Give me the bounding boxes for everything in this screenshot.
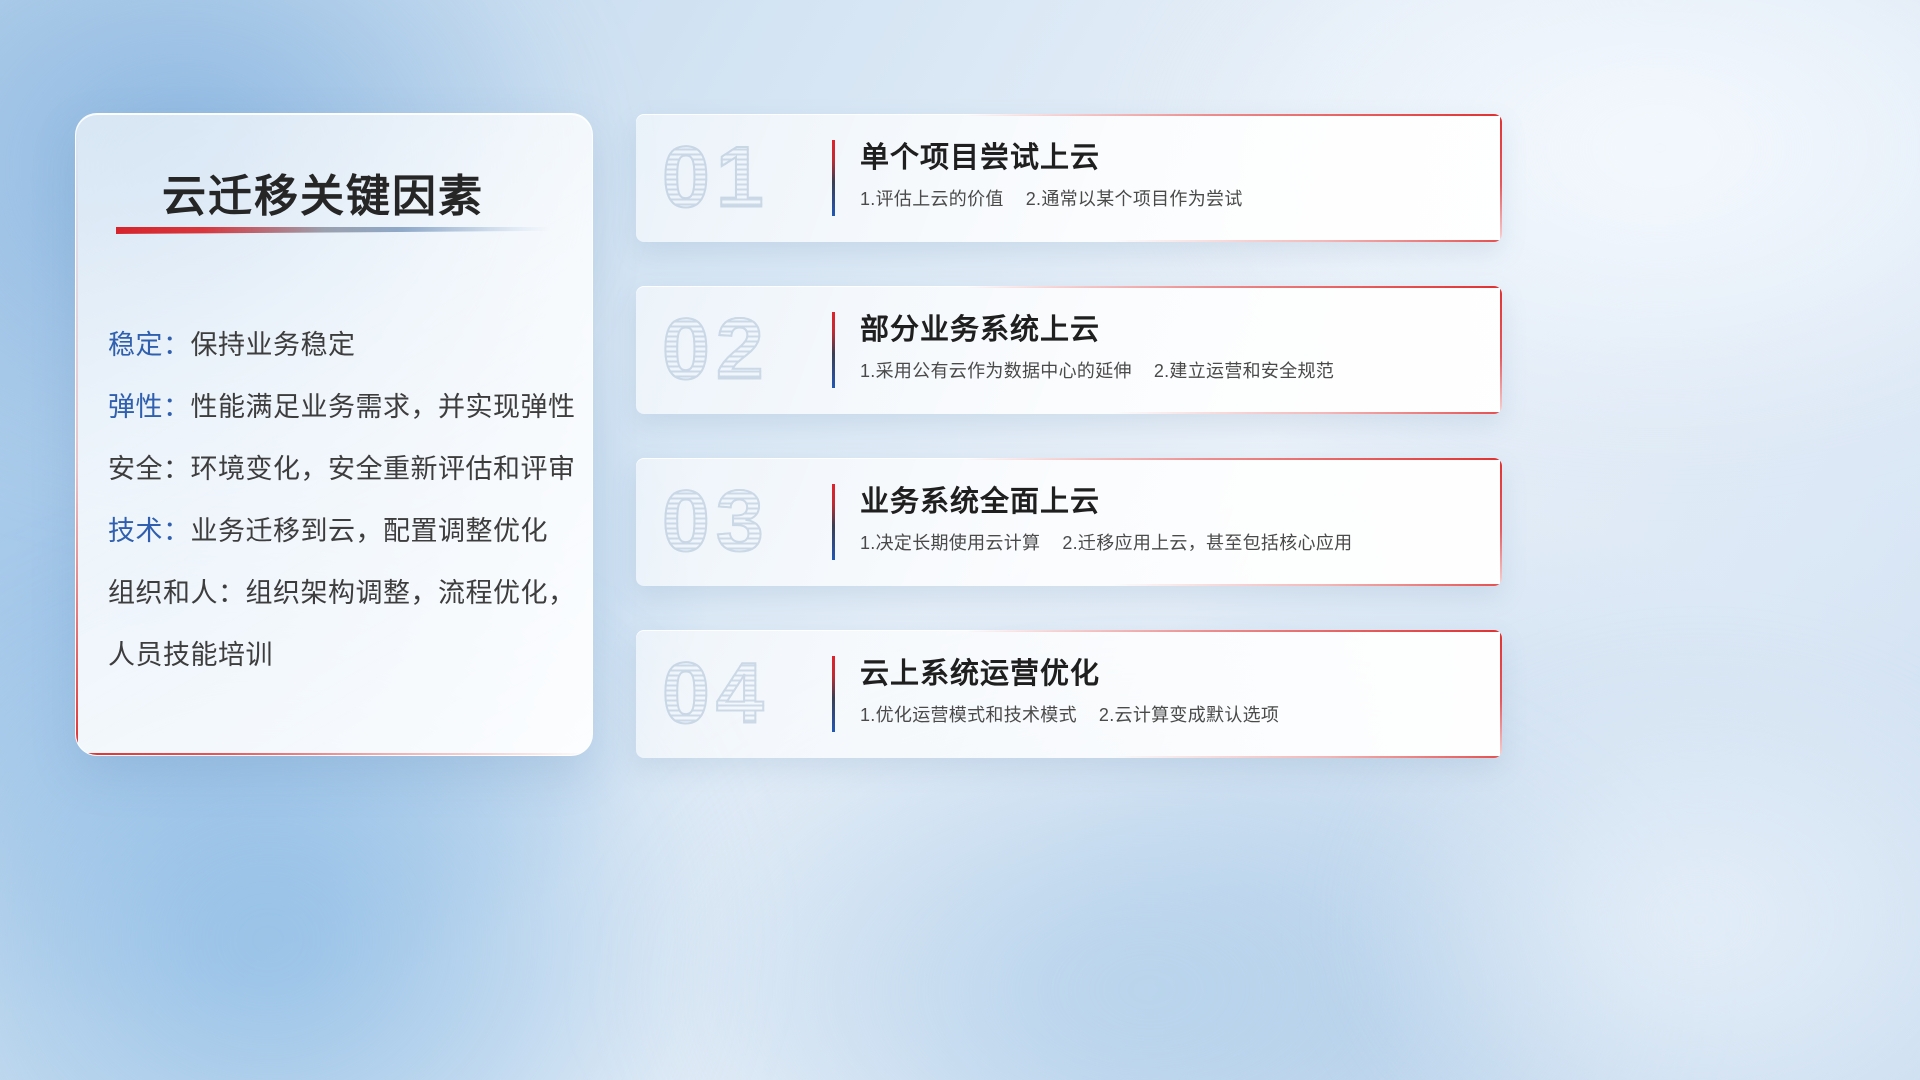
step-content: 单个项目尝试上云 1.评估上云的价值2.通常以某个项目作为尝试	[860, 138, 1478, 212]
list-item: 组织和人：组织架构调整，流程优化，	[108, 562, 564, 624]
list-item-text: 性能满足业务需求，并实现弹性	[191, 392, 576, 422]
card-top-accent	[965, 114, 1502, 116]
list-item-label: 安全：	[108, 454, 191, 484]
step-subtitle: 1.决定长期使用云计算2.迁移应用上云，甚至包括核心应用	[860, 530, 1478, 556]
step-title: 业务系统全面上云	[860, 482, 1478, 522]
step-card-02[interactable]: 02 部分业务系统上云 1.采用公有云作为数据中心的延伸2.建立运营和安全规范	[636, 286, 1502, 414]
step-accent-bar	[832, 484, 835, 560]
step-subtitle: 1.评估上云的价值2.通常以某个项目作为尝试	[860, 186, 1478, 212]
step-card-01[interactable]: 01 单个项目尝试上云 1.评估上云的价值2.通常以某个项目作为尝试	[636, 114, 1502, 242]
list-item-label: 技术：	[108, 516, 191, 546]
step-point-2: 2.通常以某个项目作为尝试	[1026, 189, 1243, 209]
step-point-2: 2.迁移应用上云，甚至包括核心应用	[1062, 533, 1352, 553]
card-right-accent	[1500, 114, 1502, 242]
step-point-1: 1.优化运营模式和技术模式	[860, 705, 1077, 725]
card-top-accent	[965, 286, 1502, 288]
list-item-label: 弹性：	[108, 392, 191, 422]
list-item-text: 组织架构调整，流程优化，	[246, 578, 576, 608]
step-subtitle: 1.优化运营模式和技术模式2.云计算变成默认选项	[860, 702, 1478, 728]
list-item-text: 业务迁移到云，配置调整优化	[191, 516, 549, 546]
step-card-03[interactable]: 03 业务系统全面上云 1.决定长期使用云计算2.迁移应用上云，甚至包括核心应用	[636, 458, 1502, 586]
card-bottom-accent	[1112, 412, 1502, 414]
step-number: 03	[662, 473, 770, 572]
step-content: 云上系统运营优化 1.优化运营模式和技术模式2.云计算变成默认选项	[860, 654, 1478, 728]
step-accent-bar	[832, 140, 835, 216]
list-item: 技术：业务迁移到云，配置调整优化	[108, 500, 564, 562]
step-number: 04	[662, 645, 770, 744]
step-title: 部分业务系统上云	[860, 310, 1478, 350]
step-point-1: 1.评估上云的价值	[860, 189, 1004, 209]
list-item-label: 组织和人：	[108, 578, 246, 608]
step-number: 02	[662, 301, 770, 400]
list-item: 弹性：性能满足业务需求，并实现弹性	[108, 376, 564, 438]
card-right-accent	[1500, 630, 1502, 758]
step-title: 单个项目尝试上云	[860, 138, 1478, 178]
list-item-text: 环境变化，安全重新评估和评审	[191, 454, 576, 484]
list-item: 人员技能培训	[108, 624, 564, 686]
card-right-accent	[1500, 286, 1502, 414]
step-content: 部分业务系统上云 1.采用公有云作为数据中心的延伸2.建立运营和安全规范	[860, 310, 1478, 384]
step-title: 云上系统运营优化	[860, 654, 1478, 694]
list-item: 稳定：保持业务稳定	[108, 314, 564, 376]
step-point-2: 2.云计算变成默认选项	[1099, 705, 1279, 725]
card-bottom-accent	[1112, 240, 1502, 242]
key-factors-panel: 云迁移关键因素 稳定：保持业务稳定 弹性：性能满足业务需求，并实现弹性 安全：环…	[75, 113, 593, 756]
key-factors-list: 稳定：保持业务稳定 弹性：性能满足业务需求，并实现弹性 安全：环境变化，安全重新…	[108, 314, 564, 686]
step-accent-bar	[832, 312, 835, 388]
list-item-label: 稳定：	[108, 330, 191, 360]
step-point-1: 1.决定长期使用云计算	[860, 533, 1040, 553]
card-bottom-accent	[1112, 756, 1502, 758]
step-content: 业务系统全面上云 1.决定长期使用云计算2.迁移应用上云，甚至包括核心应用	[860, 482, 1478, 556]
step-number: 01	[662, 129, 770, 228]
step-accent-bar	[832, 656, 835, 732]
card-top-accent	[965, 630, 1502, 632]
title-underline-accent	[116, 227, 550, 234]
list-item: 安全：环境变化，安全重新评估和评审	[108, 438, 564, 500]
step-subtitle: 1.采用公有云作为数据中心的延伸2.建立运营和安全规范	[860, 358, 1478, 384]
migration-steps-list: 01 单个项目尝试上云 1.评估上云的价值2.通常以某个项目作为尝试 02 部分…	[636, 114, 1502, 802]
step-point-1: 1.采用公有云作为数据中心的延伸	[860, 361, 1132, 381]
page-title: 云迁移关键因素	[162, 160, 484, 224]
step-point-2: 2.建立运营和安全规范	[1154, 361, 1334, 381]
card-top-accent	[965, 458, 1502, 460]
list-item-text: 保持业务稳定	[191, 330, 356, 360]
step-card-04[interactable]: 04 云上系统运营优化 1.优化运营模式和技术模式2.云计算变成默认选项	[636, 630, 1502, 758]
card-bottom-accent	[1112, 584, 1502, 586]
card-right-accent	[1500, 458, 1502, 586]
list-item-text: 人员技能培训	[108, 640, 273, 670]
